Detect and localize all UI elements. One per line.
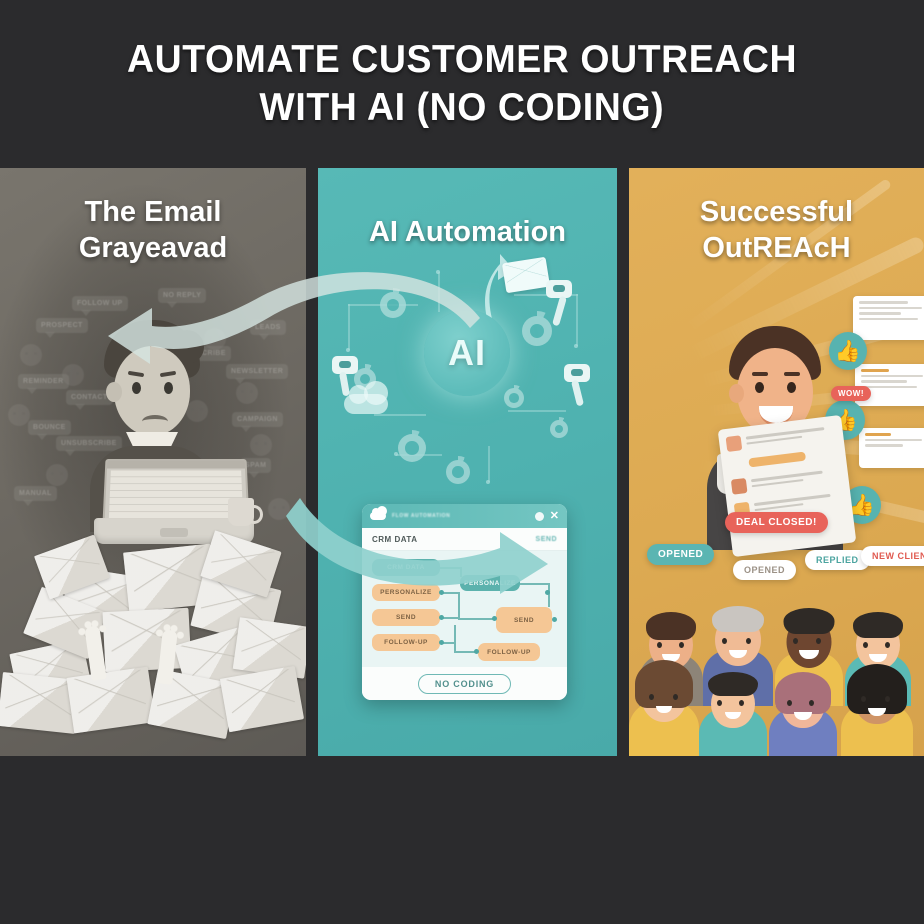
title-line-2: WITH AI (NO CODING)	[260, 86, 665, 130]
workflow-node-send-right[interactable]: SEND	[496, 607, 552, 633]
workflow-node-followup-right[interactable]: FOLLOW-UP	[478, 643, 540, 661]
panel-2-heading: AI Automation	[318, 214, 617, 250]
wordcloud-bubble: NO REPLY	[158, 288, 206, 303]
avatar	[699, 670, 767, 756]
envelope-pile	[0, 526, 306, 756]
no-coding-button[interactable]: NO CODING	[418, 674, 511, 694]
notification-card	[853, 296, 924, 340]
avatar	[769, 670, 837, 756]
panel-ai-automation: AI FLOW AUTOMATION ✕ CRM DATA SEND CRM D…	[318, 168, 617, 756]
workflow-window[interactable]: FLOW AUTOMATION ✕ CRM DATA SEND CRM DATA…	[362, 504, 567, 700]
workflow-link	[460, 567, 462, 577]
window-footer: NO CODING	[362, 667, 567, 700]
coffee-cup-icon	[228, 498, 254, 526]
bubble-new-client: NEW CLIENT!	[861, 546, 924, 566]
face-icon	[20, 344, 42, 366]
window-subheader: CRM DATA SEND	[362, 528, 567, 551]
face-icon	[268, 498, 290, 520]
bubble-opened-white: OPENED	[733, 560, 796, 580]
close-icon[interactable]: ✕	[550, 511, 559, 522]
window-titlebar: FLOW AUTOMATION ✕	[362, 504, 567, 528]
workflow-link	[520, 583, 550, 585]
face-icon	[8, 404, 30, 426]
workflow-canvas[interactable]: CRM DATA PERSONALIZE SEND FOLLOW-UP PERS…	[362, 551, 567, 667]
workflow-link	[440, 567, 462, 569]
avatar	[841, 662, 913, 756]
title-line-1: AUTOMATE CUSTOMER OUTREACH	[127, 38, 797, 82]
panel-email-graveyard: FOLLOW UP OUTREACH PROSPECT SUBSCRIBE CO…	[0, 168, 306, 756]
workflow-link	[458, 618, 496, 620]
workflow-link	[454, 625, 456, 652]
minimize-button[interactable]	[535, 512, 544, 521]
infographic-canvas: AUTOMATE CUSTOMER OUTREACH WITH AI (NO C…	[0, 0, 924, 924]
wordcloud-bubble: LEADS	[250, 320, 286, 335]
workflow-node-personalize-right[interactable]: PERSONALIZE	[460, 575, 520, 591]
wordcloud-bubble: NEWSLETTER	[226, 364, 288, 379]
bubble-opened-teal: OPENED	[647, 544, 714, 565]
avatar	[629, 658, 699, 756]
panel-successful-outreach: 👍 👍 👍	[629, 168, 924, 756]
workflow-link	[548, 583, 550, 607]
ai-hub-badge: AI	[424, 310, 510, 396]
window-title: FLOW AUTOMATION	[392, 513, 529, 519]
wordcloud-bubble: FOLLOW UP	[72, 296, 128, 311]
bubble-wow: WOW!	[831, 386, 871, 401]
workflow-node-followup-left[interactable]: FOLLOW-UP	[372, 634, 440, 651]
workflow-node-send-left[interactable]: SEND	[372, 609, 440, 626]
notification-card	[859, 428, 924, 468]
workflow-node-personalize-left[interactable]: PERSONALIZE	[372, 584, 440, 601]
wordcloud-bubble: PROSPECT	[36, 318, 88, 333]
cloud-icon	[370, 512, 386, 520]
subheader-left-label: CRM DATA	[372, 535, 417, 544]
face-icon	[62, 364, 84, 386]
panel-row: FOLLOW UP OUTREACH PROSPECT SUBSCRIBE CO…	[0, 168, 924, 756]
workflow-node-crm-data[interactable]: CRM DATA	[372, 559, 440, 576]
wordcloud-bubble: MANUAL	[14, 486, 57, 501]
workflow-link	[458, 592, 460, 618]
wordcloud-bubble: CAMPAIGN	[232, 412, 283, 427]
wordcloud-bubble: BOUNCE	[28, 420, 71, 435]
tablet-illustration	[718, 415, 857, 557]
face-icon	[46, 464, 68, 486]
face-icon	[250, 434, 272, 456]
subheader-right-label: SEND	[536, 536, 557, 543]
infographic-header: AUTOMATE CUSTOMER OUTREACH WITH AI (NO C…	[0, 0, 924, 168]
workflow-link	[442, 617, 458, 619]
wordcloud-bubble: REMINDER	[18, 374, 69, 389]
ai-hub-label: AI	[448, 332, 486, 374]
face-icon	[236, 382, 258, 404]
bubble-replied: REPLIED	[805, 550, 870, 570]
bubble-deal-closed: DEAL CLOSED!	[725, 512, 828, 533]
panel-2-heading-line1: AI Automation	[318, 214, 617, 250]
thumbs-up-icon: 👍	[829, 332, 867, 370]
cloud-icon	[344, 394, 388, 414]
customer-avatars	[629, 600, 924, 756]
